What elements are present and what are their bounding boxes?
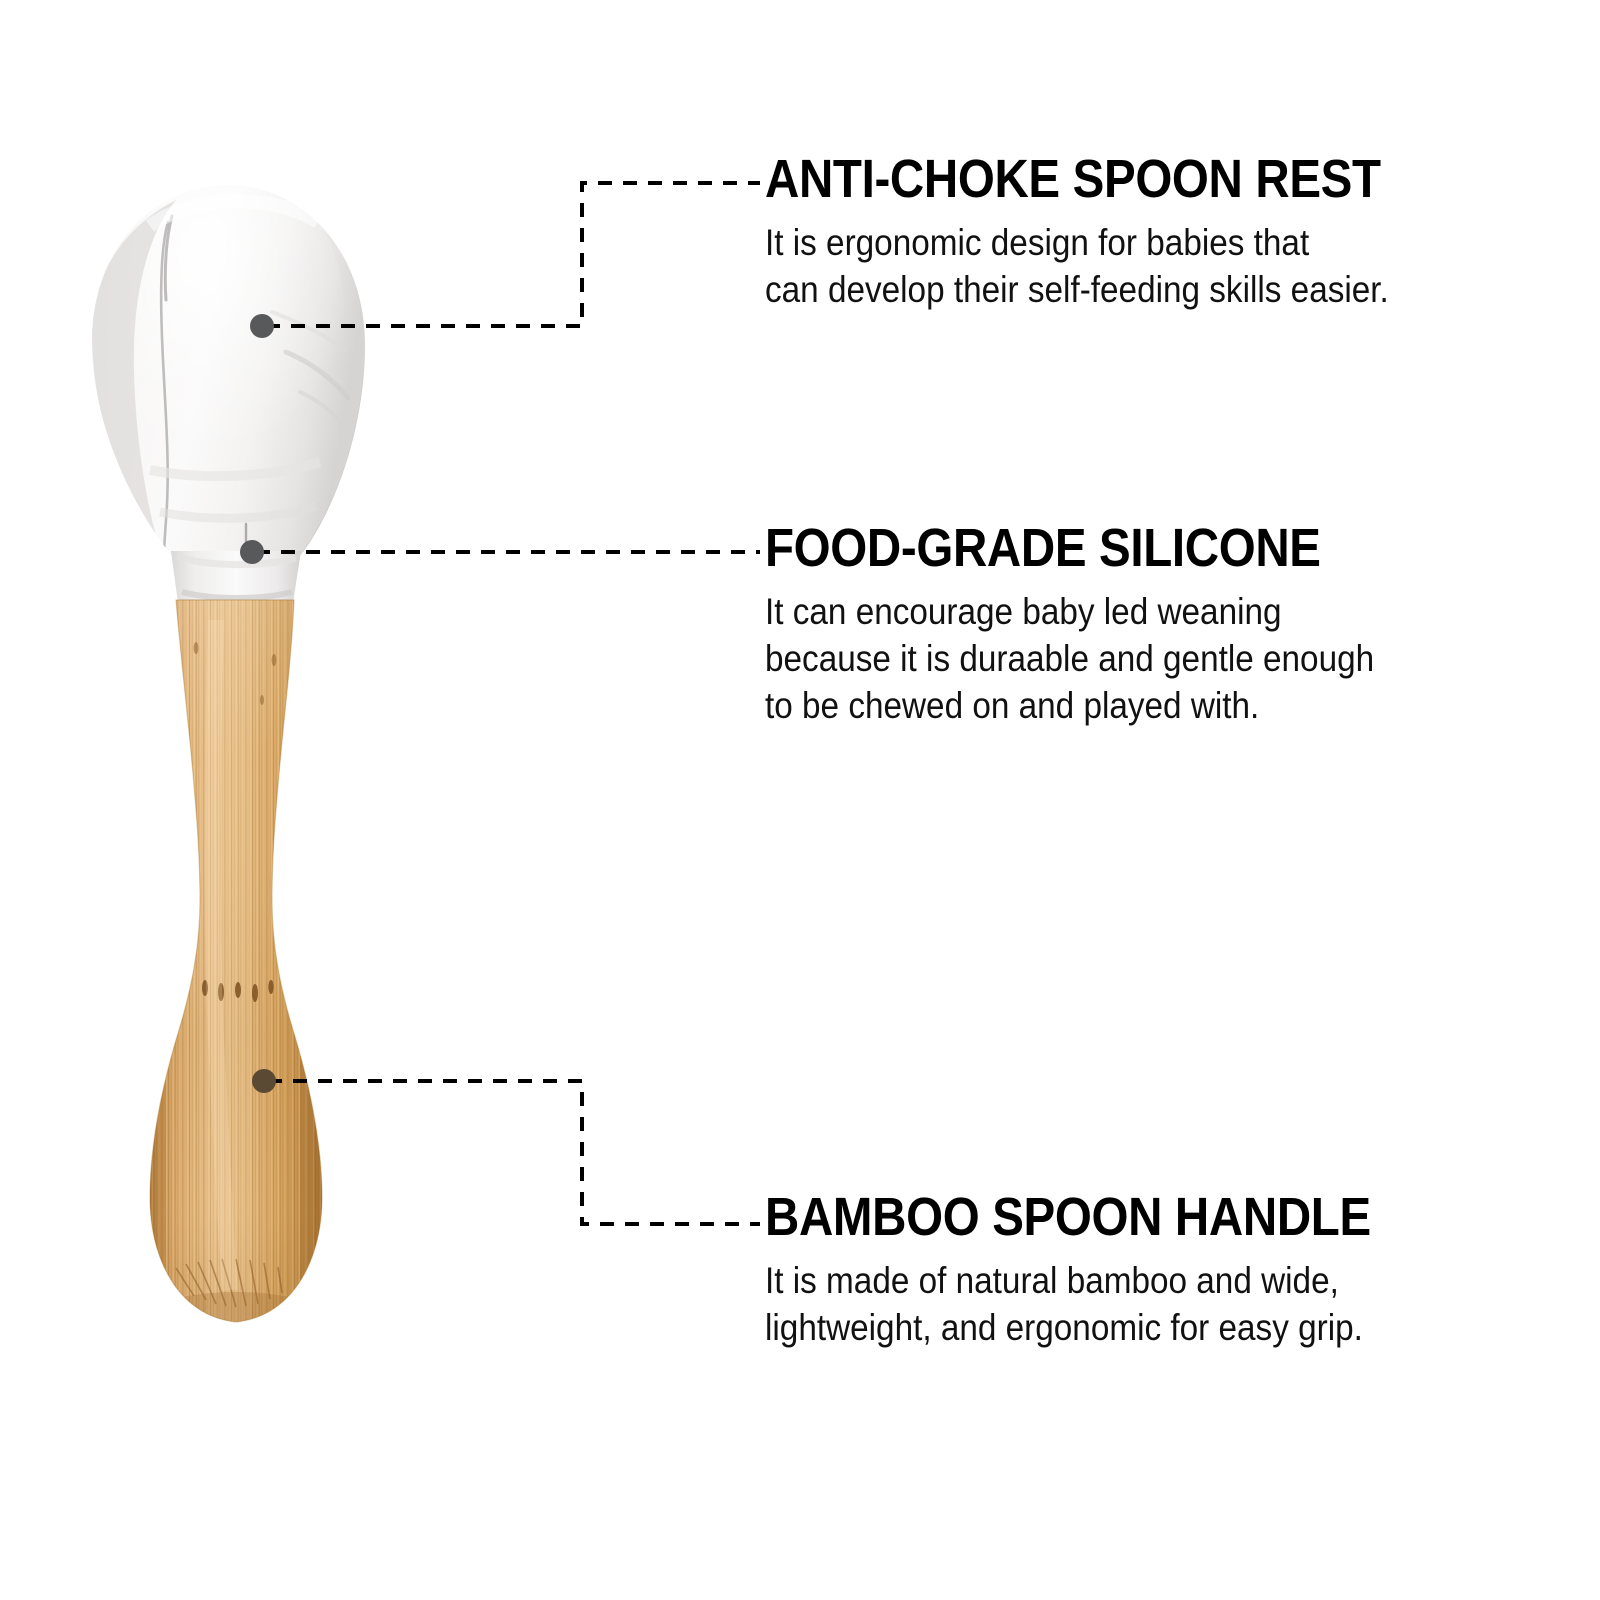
- callout-body-line: can develop their self-feeding skills ea…: [765, 267, 1449, 314]
- spoon-bowl-shape: [85, 155, 365, 588]
- callout-body-line: It can encourage baby led weaning: [765, 589, 1449, 636]
- callout-body-line: to be chewed on and played with.: [765, 683, 1449, 730]
- callout-block-anti-choke: ANTI-CHOKE SPOON REST It is ergonomic de…: [765, 152, 1525, 314]
- product-image: [0, 0, 560, 1600]
- bamboo-handle-shape: [140, 590, 340, 1350]
- callout-block-bamboo: BAMBOO SPOON HANDLE It is made of natura…: [765, 1190, 1525, 1352]
- callout-title-anti-choke: ANTI-CHOKE SPOON REST: [765, 152, 1434, 206]
- silicone-collar-shape: [171, 551, 301, 603]
- callout-block-food-grade: FOOD-GRADE SILICONE It can encourage bab…: [765, 521, 1525, 730]
- callout-body-line: because it is duraable and gentle enough: [765, 636, 1449, 683]
- callout-body-line: It is ergonomic design for babies that: [765, 220, 1449, 267]
- callout-body-food-grade: It can encourage baby led weaning becaus…: [765, 589, 1449, 730]
- callout-body-line: lightweight, and ergonomic for easy grip…: [765, 1305, 1449, 1352]
- callout-title-food-grade: FOOD-GRADE SILICONE: [765, 521, 1434, 575]
- callout-body-bamboo: It is made of natural bamboo and wide, l…: [765, 1258, 1449, 1352]
- callout-body-line: It is made of natural bamboo and wide,: [765, 1258, 1449, 1305]
- callout-title-bamboo: BAMBOO SPOON HANDLE: [765, 1190, 1434, 1244]
- infographic-canvas: ANTI-CHOKE SPOON REST It is ergonomic de…: [0, 0, 1600, 1600]
- spoon-illustration: [0, 0, 560, 1600]
- callout-body-anti-choke: It is ergonomic design for babies that c…: [765, 220, 1449, 314]
